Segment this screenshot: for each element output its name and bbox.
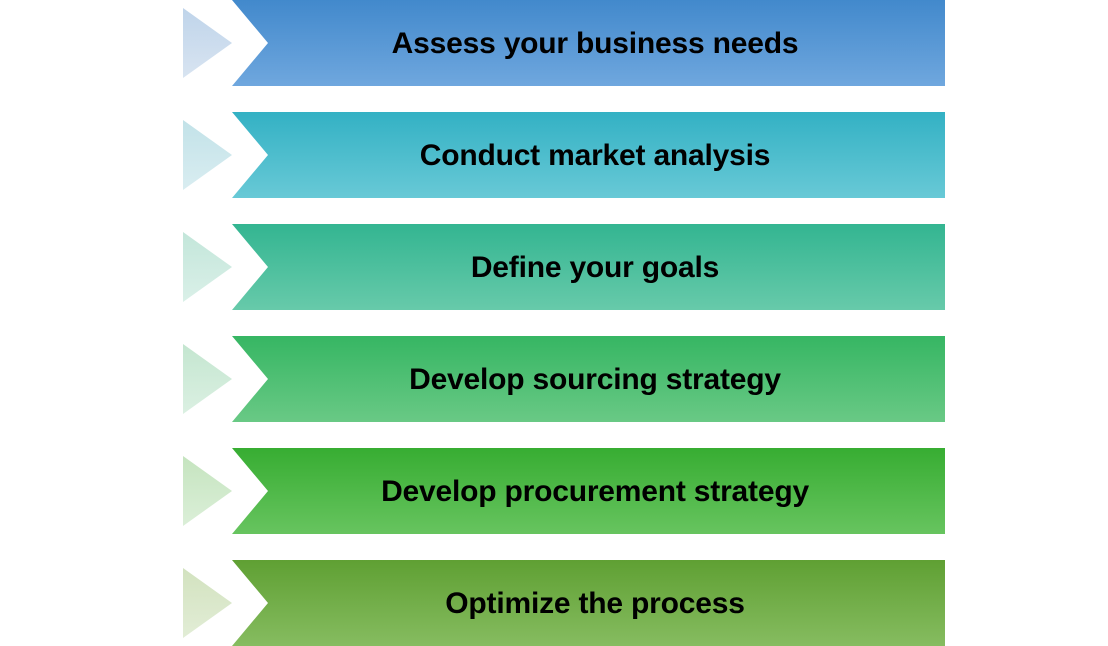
chevron-shape-step-4: [0, 336, 1108, 422]
chevron-body-4: [232, 336, 945, 422]
process-step-row[interactable]: Develop procurement strategy: [0, 448, 1108, 534]
chevron-process-diagram: Assess your business needs Conduct marke…: [0, 0, 1108, 646]
chevron-shape-step-1: [0, 0, 1108, 86]
chevron-tail-triangle-1: [183, 8, 232, 78]
process-step-row[interactable]: Develop sourcing strategy: [0, 336, 1108, 422]
chevron-shape-step-3: [0, 224, 1108, 310]
chevron-shape-step-2: [0, 112, 1108, 198]
chevron-shape-step-6: [0, 560, 1108, 646]
chevron-shape-step-5: [0, 448, 1108, 534]
chevron-tail-triangle-3: [183, 232, 232, 302]
chevron-tail-triangle-4: [183, 344, 232, 414]
chevron-body-2: [232, 112, 945, 198]
chevron-body-6: [232, 560, 945, 646]
chevron-body-5: [232, 448, 945, 534]
process-step-row[interactable]: Conduct market analysis: [0, 112, 1108, 198]
process-step-row[interactable]: Define your goals: [0, 224, 1108, 310]
process-step-row[interactable]: Assess your business needs: [0, 0, 1108, 86]
chevron-tail-triangle-6: [183, 568, 232, 638]
process-step-row[interactable]: Optimize the process: [0, 560, 1108, 646]
chevron-tail-triangle-2: [183, 120, 232, 190]
chevron-body-3: [232, 224, 945, 310]
chevron-tail-triangle-5: [183, 456, 232, 526]
chevron-body-1: [232, 0, 945, 86]
